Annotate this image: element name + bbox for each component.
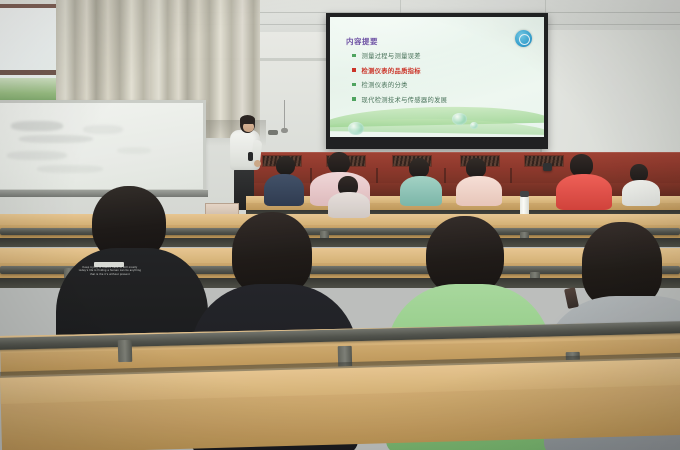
wall-sensor xyxy=(268,130,278,135)
presenter-microphone xyxy=(248,152,253,161)
presenter-hair xyxy=(240,115,255,124)
shirt-printed-text: Keep trying to realize have to still mos… xyxy=(74,266,146,292)
bullet-square-icon xyxy=(352,54,356,58)
slide-bullet-2: 检测仪表的品质指标 xyxy=(352,66,522,75)
cord-knob xyxy=(281,128,288,133)
slide-bullet-1: 测量过程与测量误差 xyxy=(352,51,522,60)
projection-screen: 内容提要 测量过程与测量误差 检测仪表的品质指标 检测仪表的分类 现代检测技术与… xyxy=(330,17,544,137)
slide-bullet-text: 检测仪表的品质指标 xyxy=(362,66,421,75)
slide-wave-decoration xyxy=(330,103,544,137)
smartphone xyxy=(564,287,579,309)
bullet-square-icon xyxy=(352,83,356,87)
slide-bullet-text: 测量过程与测量误差 xyxy=(362,51,421,60)
wall-speaker xyxy=(543,163,552,171)
lecture-hall-photo: 内容提要 测量过程与测量误差 检测仪表的品质指标 检测仪表的分类 现代检测技术与… xyxy=(0,0,680,450)
ceiling-cord xyxy=(284,100,285,130)
slide-bullet-text: 检测仪表的分类 xyxy=(362,80,408,89)
university-emblem-icon xyxy=(515,30,532,47)
bullet-square-icon xyxy=(352,97,356,101)
slide-bullet-3: 检测仪表的分类 xyxy=(352,80,522,89)
bullet-square-icon xyxy=(352,68,356,72)
slide-bullet-list: 测量过程与测量误差 检测仪表的品质指标 检测仪表的分类 现代检测技术与传感器的发… xyxy=(352,51,522,109)
whiteboard xyxy=(0,100,206,192)
presenter-hand xyxy=(254,160,261,167)
bottle-cap xyxy=(520,191,529,197)
slide-title: 内容提要 xyxy=(346,36,378,47)
